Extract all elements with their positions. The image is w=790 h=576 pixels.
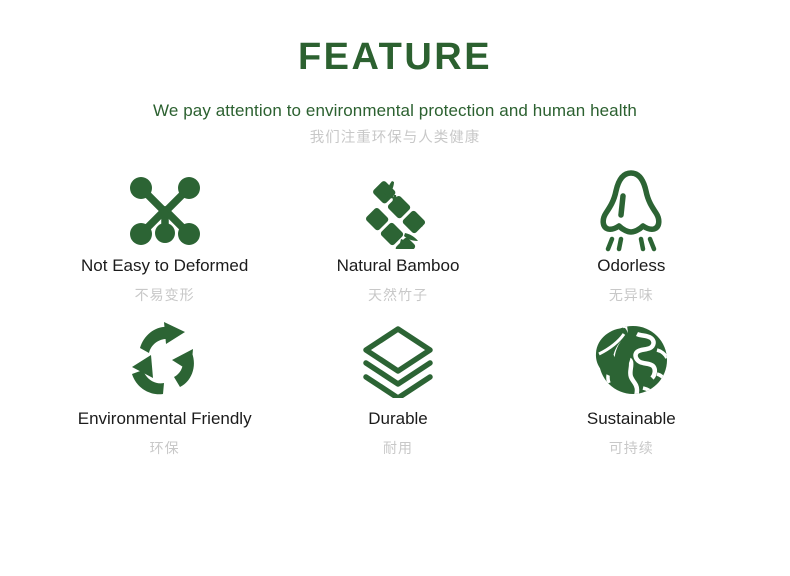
feature-label-en: Durable xyxy=(368,409,428,429)
nose-icon xyxy=(596,170,666,252)
feature-label-cn: 无异味 xyxy=(609,287,654,304)
feature-label-en: Odorless xyxy=(597,256,665,276)
layers-stack-icon xyxy=(360,317,436,403)
feature-label-cn: 不易变形 xyxy=(135,287,195,304)
feature-item-sustainable: Sustainable 可持续 xyxy=(515,317,748,464)
feature-label-cn: 天然竹子 xyxy=(368,287,428,304)
subtitle-english: We pay attention to environmental protec… xyxy=(0,101,790,121)
feature-label-en: Not Easy to Deformed xyxy=(81,256,248,276)
feature-item-durable: Durable 耐用 xyxy=(281,317,514,464)
bamboo-icon xyxy=(361,170,435,252)
feature-item-not-easy-to-deformed: Not Easy to Deformed 不易变形 xyxy=(48,170,281,317)
feature-label-cn: 环保 xyxy=(150,440,180,457)
feature-label-en: Sustainable xyxy=(587,409,676,429)
feature-label-cn: 可持续 xyxy=(609,440,654,457)
subtitle-chinese: 我们注重环保与人类健康 xyxy=(0,130,790,147)
molecule-network-icon xyxy=(127,170,203,252)
feature-grid: Not Easy to Deformed 不易变形 xyxy=(48,170,748,464)
feature-item-environmental-friendly: Environmental Friendly 环保 xyxy=(48,317,281,464)
feature-label-cn: 耐用 xyxy=(383,440,413,457)
page-title: FEATURE xyxy=(0,38,790,78)
feature-item-natural-bamboo: Natural Bamboo 天然竹子 xyxy=(281,170,514,317)
section-header: FEATURE We pay attention to environmenta… xyxy=(0,0,790,148)
feature-item-odorless: Odorless 无异味 xyxy=(515,170,748,317)
globe-leaf-icon xyxy=(591,317,671,403)
feature-section: FEATURE We pay attention to environmenta… xyxy=(0,0,790,576)
feature-label-en: Environmental Friendly xyxy=(78,409,252,429)
feature-label-en: Natural Bamboo xyxy=(337,256,460,276)
recycle-icon xyxy=(123,317,207,403)
